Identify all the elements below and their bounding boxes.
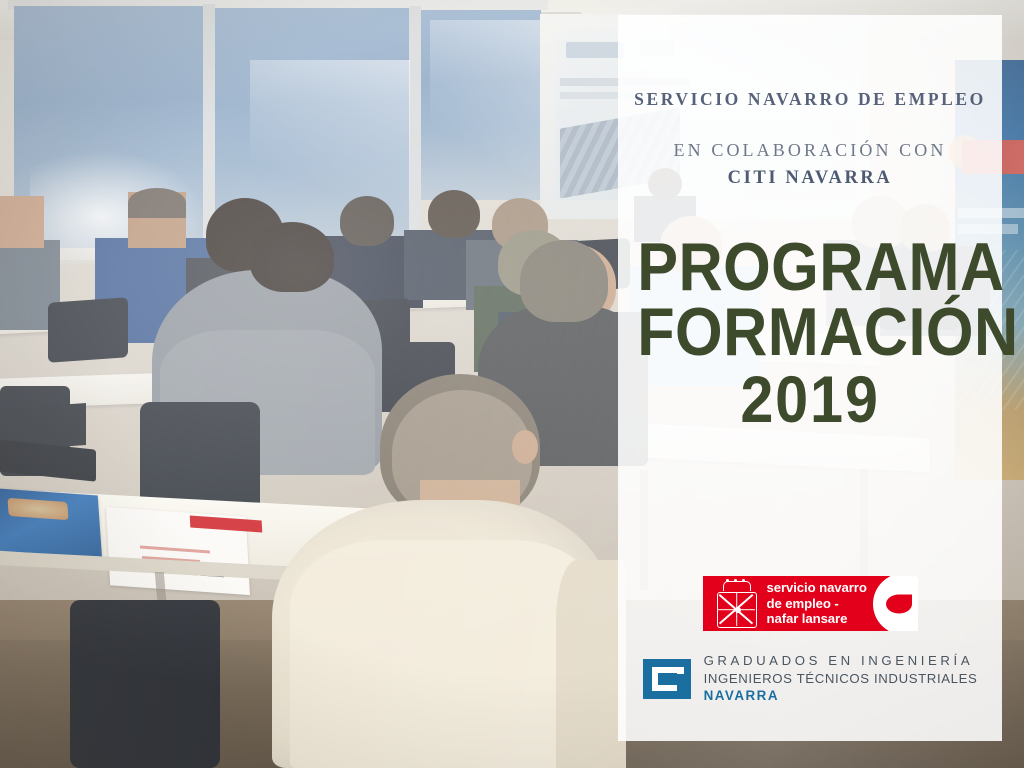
poster-canvas: SERVICIO NAVARRO DE EMPLEO EN COLABORACI… <box>0 0 1024 768</box>
servicio-navarro-empleo-logo: servicio navarro de empleo - nafar lansa… <box>703 576 918 631</box>
title-line-3: 2019 <box>637 368 983 431</box>
title-line-2: FORMACIÓN <box>637 300 983 365</box>
organizer-kicker: SERVICIO NAVARRO DE EMPLEO <box>634 89 986 110</box>
sne-logo-text: servicio navarro de empleo - nafar lansa… <box>767 580 867 626</box>
collaboration-label: EN COLABORACIÓN CON <box>674 140 947 161</box>
collaboration-partner: CITI NAVARRA <box>728 168 893 189</box>
sne-line-1: servicio navarro <box>767 580 867 595</box>
page-title: PROGRAMA FORMACIÓN 2019 <box>637 235 983 431</box>
content-panel: SERVICIO NAVARRO DE EMPLEO EN COLABORACI… <box>618 15 1002 741</box>
citi-c-mark-icon <box>643 659 691 699</box>
citi-line-2: INGENIEROS TÉCNICOS INDUSTRIALES <box>704 670 978 688</box>
citi-line-3: NAVARRA <box>704 687 978 705</box>
logo-group: servicio navarro de empleo - nafar lansa… <box>618 576 1002 705</box>
citi-line-1: GRADUADOS EN INGENIERÍA <box>704 652 978 670</box>
citi-logo-text: GRADUADOS EN INGENIERÍA INGENIEROS TÉCNI… <box>704 652 978 705</box>
sne-line-2: de empleo - <box>767 596 867 611</box>
sne-line-3: nafar lansare <box>767 611 867 626</box>
sne-eye-mark <box>886 594 912 613</box>
navarra-coat-of-arms-icon <box>714 581 758 627</box>
citi-navarra-logo: GRADUADOS EN INGENIERÍA INGENIEROS TÉCNI… <box>643 652 978 705</box>
title-line-1: PROGRAMA <box>637 235 983 300</box>
